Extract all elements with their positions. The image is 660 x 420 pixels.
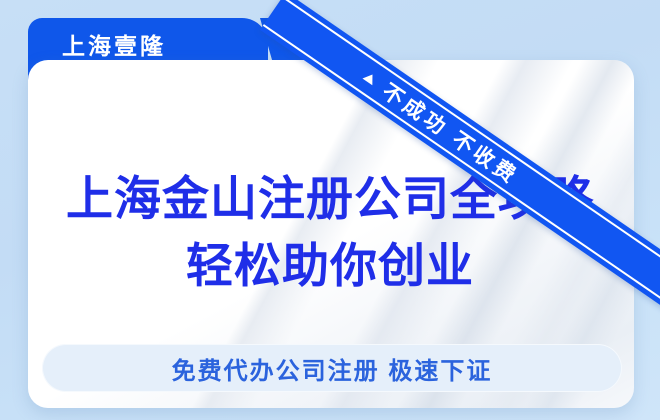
brand-tab-label: 上海壹隆	[62, 27, 166, 61]
triangle-up-icon	[363, 71, 378, 85]
cta-pill[interactable]: 免费代办公司注册 极速下证	[42, 344, 622, 392]
poster-canvas: 上海壹隆 上海金山注册公司全攻略 轻松助你创业 免费代办公司注册 极速下证 不成…	[0, 0, 660, 420]
cta-label: 免费代办公司注册 极速下证	[172, 351, 493, 386]
headline-line-2: 轻松助你创业	[0, 233, 660, 300]
brand-tab[interactable]: 上海壹隆	[28, 18, 206, 70]
